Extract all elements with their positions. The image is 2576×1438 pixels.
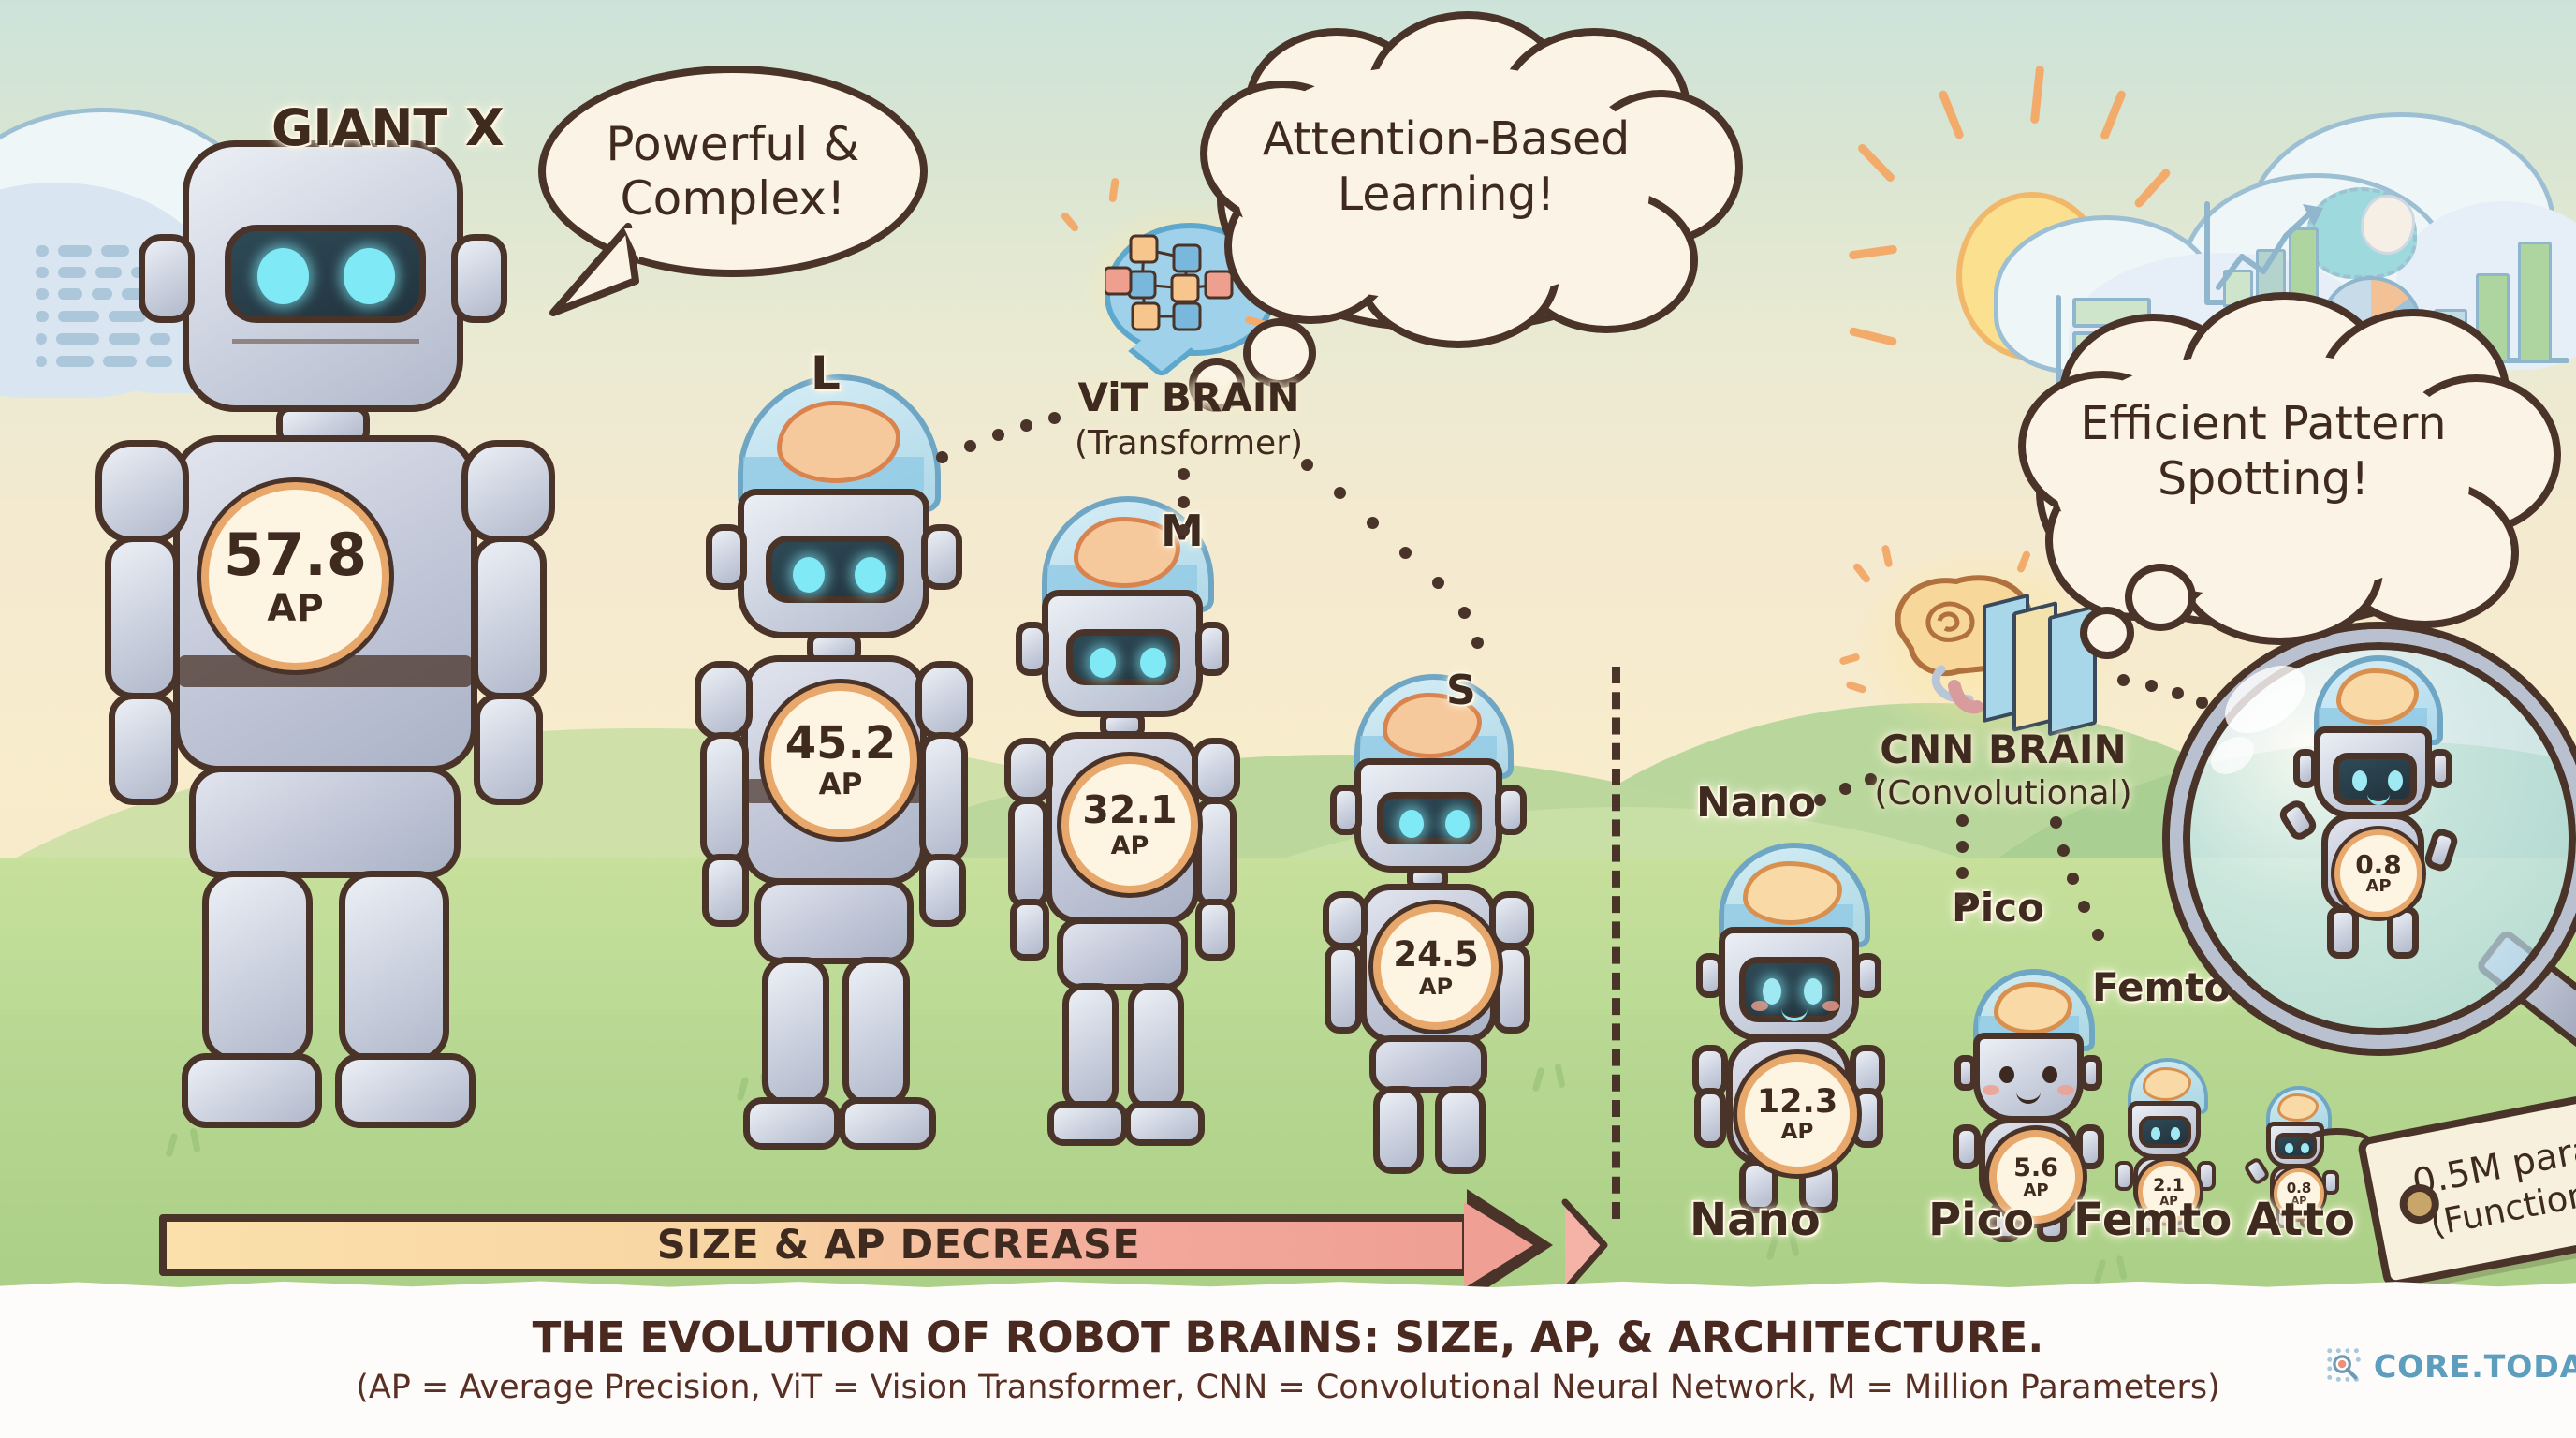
robot-pico[interactable]: 5.6 AP	[1947, 969, 2115, 1222]
robot-eye-left	[1399, 810, 1424, 838]
thought-dot-large	[2125, 564, 2196, 631]
bottom-label-femto: Femto	[2073, 1194, 2232, 1246]
decor-code-line	[36, 333, 47, 345]
robot-ear-left	[706, 524, 747, 590]
size-label-small: S	[1446, 667, 1476, 714]
bottom-label-nano: Nano	[1690, 1194, 1821, 1246]
robot-hand-right	[1195, 899, 1235, 961]
robot-ear-right	[2428, 749, 2452, 788]
ap-unit: AP	[819, 770, 863, 800]
robot-large[interactable]: 45.2 AP	[683, 374, 992, 1180]
robot-eye-right	[1140, 648, 1166, 678]
size-label-pico: Pico	[1952, 885, 2044, 931]
robot-hand-left	[1694, 1088, 1726, 1148]
cnn-brain-subtitle: (Convolutional)	[1816, 773, 2190, 814]
robot-arm-right	[2197, 1161, 2216, 1191]
ap-value: 57.8	[224, 526, 367, 584]
robot-eye-left	[2285, 1143, 2293, 1153]
infographic-canvas: 57.8 AP GIANT X	[0, 0, 2576, 1438]
ap-value: 2.1	[2153, 1177, 2185, 1195]
robot-eye-left	[1090, 648, 1116, 678]
decor-code-line	[36, 245, 49, 257]
size-decrease-arrow: SIZE & AP DECREASE	[159, 1189, 1666, 1301]
decor-code-line	[58, 267, 86, 278]
ap-value: 45.2	[785, 721, 896, 766]
robot-shoulder-left	[1004, 738, 1053, 803]
size-label-giant-x: GIANT X	[271, 98, 505, 157]
robot-shoulder-right	[461, 440, 555, 543]
robot-hand-left	[109, 693, 178, 805]
robot-arm-left-raised	[2276, 797, 2320, 844]
robot-ear-right	[1195, 622, 1229, 676]
robot-leg-left	[2327, 906, 2359, 959]
decor-code-line	[36, 288, 49, 300]
ap-value: 5.6	[2013, 1155, 2058, 1181]
robot-smile	[2367, 791, 2390, 805]
robot-cheek-right	[2057, 1085, 2074, 1095]
robot-ear-left	[1330, 785, 1362, 835]
robot-arm-right	[1195, 798, 1237, 908]
ap-badge-medium: 32.1 AP	[1061, 756, 1198, 893]
robot-foot-left	[182, 1053, 322, 1128]
decor-code-line	[36, 356, 47, 367]
ap-unit: AP	[1781, 1122, 1814, 1143]
robot-ear-left	[1954, 1055, 1977, 1091]
robot-visor	[1377, 792, 1482, 844]
robot-foot-right	[839, 1097, 936, 1150]
robot-ear-right	[921, 524, 962, 590]
ap-unit: AP	[2365, 878, 2391, 895]
robot-shoulder-left	[695, 661, 753, 740]
vit-brain-subtitle: (Transformer)	[1011, 423, 1367, 463]
robot-arm-left	[700, 732, 749, 863]
ap-badge-nano: 12.3 AP	[1737, 1054, 1857, 1174]
robot-ear-left	[139, 234, 195, 323]
robot-leg-left	[762, 957, 829, 1107]
brand-name: CORE.TODAY	[2374, 1348, 2576, 1385]
robot-leg-left	[1373, 1086, 1424, 1174]
ap-unit: AP	[267, 590, 323, 627]
footer: THE EVOLUTION OF ROBOT BRAINS: SIZE, AP,…	[0, 1301, 2576, 1438]
robot-ear-right	[2080, 1055, 2102, 1091]
robot-visor	[2333, 753, 2417, 805]
robot-shoulder-right	[1192, 738, 1240, 803]
speech-bubble-text: Powerful & Complex!	[546, 117, 920, 226]
robot-leg-left	[202, 871, 313, 1063]
robot-foot-right	[335, 1053, 476, 1128]
ap-value: 0.8	[2355, 852, 2402, 878]
decor-code-line	[36, 267, 49, 278]
robot-hips	[754, 878, 914, 964]
robot-visor	[2139, 1116, 2191, 1148]
robot-cheek-left	[1751, 1001, 1768, 1011]
robot-foot-left	[1047, 1101, 1128, 1146]
robot-leg-right	[1128, 983, 1184, 1110]
mini-chart-trend-icon	[2209, 198, 2340, 301]
robot-visor	[225, 225, 426, 323]
robot-eye-right	[2042, 1066, 2057, 1083]
robot-shoulder-right	[915, 661, 973, 740]
robot-foot-left	[743, 1097, 841, 1150]
page-title: THE EVOLUTION OF ROBOT BRAINS: SIZE, AP,…	[0, 1313, 2576, 1362]
robot-hips	[1369, 1035, 1487, 1093]
robot-hips	[1057, 917, 1188, 990]
thought-bubble-attention-text: Attention-Based Learning!	[1236, 112, 1657, 223]
robot-magnified-atto: 0.8 AP	[2282, 655, 2479, 964]
robot-eye-right	[2388, 770, 2403, 791]
robot-smile	[1781, 1006, 1808, 1021]
robot-eye-left	[2352, 770, 2367, 791]
robot-visor	[1066, 629, 1180, 685]
ap-badge-giant-x: 57.8 AP	[201, 482, 389, 670]
robot-foot-right	[1124, 1101, 1205, 1146]
architecture-divider	[1612, 667, 1620, 1219]
robot-nano[interactable]: 12.3 AP	[1685, 843, 1900, 1217]
robot-eye-left	[2151, 1127, 2160, 1140]
bottom-label-atto: Atto	[2247, 1194, 2355, 1246]
robot-arm-left	[2115, 1161, 2133, 1191]
size-label-femto: Femto	[2092, 964, 2231, 1010]
ap-badge-large: 45.2 AP	[764, 683, 917, 837]
robot-eye-right	[2171, 1127, 2180, 1140]
robot-ear-right	[1495, 785, 1527, 835]
robot-mouth-grill	[232, 339, 419, 390]
robot-eye-right	[344, 248, 395, 304]
ap-badge-magnified: 0.8 AP	[2334, 829, 2422, 917]
robot-small[interactable]: 24.5 AP	[1315, 674, 1549, 1189]
robot-leg-right	[1435, 1086, 1486, 1174]
robot-ear-left	[1016, 622, 1049, 676]
robot-shoulder-left	[95, 440, 189, 543]
robot-hand-left	[702, 854, 749, 927]
robot-medium[interactable]: 32.1 AP	[997, 496, 1259, 1180]
robot-shoulder-left	[1323, 891, 1368, 949]
ap-badge-small: 24.5 AP	[1373, 904, 1499, 1030]
arrow-head-fill	[1464, 1202, 1533, 1288]
bottom-label-pico: Pico	[1928, 1194, 2034, 1246]
size-label-nano: Nano	[1696, 779, 1816, 827]
robot-eye-left	[793, 557, 825, 593]
robot-leg-right	[842, 957, 910, 1107]
ap-value: 32.1	[1082, 791, 1177, 829]
robot-hips	[189, 766, 461, 878]
robot-arm-right	[1493, 944, 1530, 1034]
robot-ear-right	[1853, 953, 1881, 998]
robot-giant-x[interactable]: 57.8 AP	[84, 131, 580, 1189]
decor-code-line	[36, 311, 49, 322]
robot-hand-right	[474, 693, 543, 805]
scene: 57.8 AP GIANT X	[0, 0, 2576, 1301]
robot-eye-left	[1763, 978, 1781, 1005]
robot-eye-right	[1804, 978, 1822, 1005]
mini-chart-bar	[2518, 242, 2552, 363]
size-label-large: L	[811, 346, 841, 401]
cnn-brain-title: CNN BRAIN	[1816, 726, 2190, 773]
robot-arm-right	[472, 536, 547, 699]
robot-eye-right	[855, 557, 886, 593]
robot-ear-left	[2293, 749, 2318, 788]
robot-ear-left	[1696, 953, 1724, 998]
robot-arm-left	[1325, 944, 1362, 1034]
thought-dot-small	[2080, 607, 2134, 659]
robot-eye-left	[1999, 1066, 2014, 1083]
robot-visor	[1739, 957, 1840, 1022]
speech-bubble-tail	[538, 223, 669, 326]
robot-ear-right	[451, 234, 507, 323]
search-icon	[2325, 1346, 2364, 1386]
ap-unit: AP	[1419, 976, 1453, 998]
robot-shoulder-right	[1489, 891, 1534, 949]
arrow-label: SIZE & AP DECREASE	[657, 1222, 1140, 1269]
robot-eye-left	[257, 248, 309, 304]
ap-value: 12.3	[1757, 1086, 1837, 1119]
robot-arm-left	[1953, 1124, 1981, 1169]
robot-leg-left	[1062, 983, 1119, 1110]
robot-arm-right	[2422, 827, 2460, 873]
brand-logo[interactable]: CORE.TODAY	[2325, 1346, 2576, 1386]
robot-hand-right	[919, 854, 966, 927]
robot-hand-left	[1010, 899, 1049, 961]
decor-code-line	[58, 288, 82, 300]
robot-cheek-right	[1822, 1001, 1839, 1011]
robot-cheek-left	[1983, 1085, 1999, 1095]
robot-eye-right	[1445, 810, 1470, 838]
robot-arm-left	[105, 536, 180, 699]
robot-arm-left	[1008, 798, 1049, 908]
ap-value: 24.5	[1393, 937, 1478, 972]
thought-bubble-efficient-text: Efficient Pattern Spotting!	[2052, 397, 2475, 507]
robot-arm-right	[919, 732, 968, 863]
robot-leg-right	[339, 871, 449, 1063]
robot-head	[1973, 1033, 2084, 1123]
ap-unit: AP	[1111, 833, 1149, 858]
page-subtitle: (AP = Average Precision, ViT = Vision Tr…	[0, 1369, 2576, 1406]
robot-visor	[766, 536, 904, 603]
vit-brain-title: ViT BRAIN	[1011, 374, 1367, 421]
